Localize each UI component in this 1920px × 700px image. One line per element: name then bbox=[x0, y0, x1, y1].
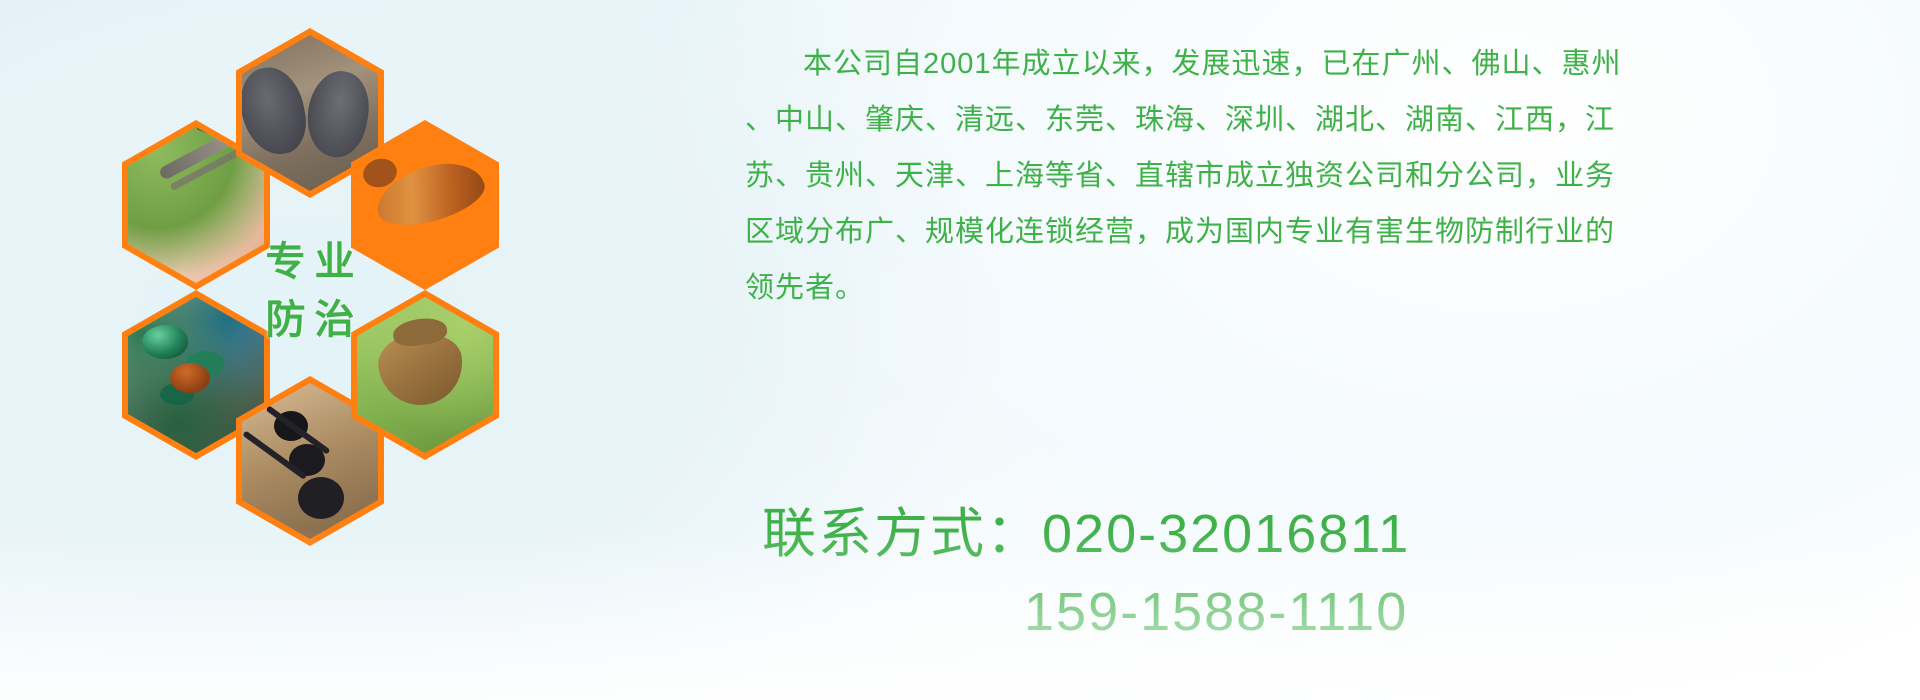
hexagon-photo-cluster: 专业 防治 bbox=[90, 10, 590, 570]
contact-phone-2[interactable]: 159-1588-1110 bbox=[1024, 582, 1408, 642]
contact-block: 联系方式：020-32016811 159-1588-1110 bbox=[762, 495, 1862, 651]
center-slogan-badge: 专业 防治 bbox=[236, 206, 384, 376]
intro-line-4: 区域分布广、规模化连锁经营，成为国内专业有害生物防制行业的 bbox=[745, 204, 1865, 260]
contact-line-primary: 联系方式：020-32016811 bbox=[762, 495, 1862, 573]
intro-paragraph: 本公司自2001年成立以来，发展迅速，已在广州、佛山、惠州 、中山、肇庆、清远、… bbox=[745, 36, 1865, 316]
contact-phone-1[interactable]: 020-32016811 bbox=[1042, 504, 1410, 564]
promo-banner: 专业 防治 本公司自2001年成立以来，发展迅速，已在广州、佛山、惠州 、中山、… bbox=[0, 0, 1920, 700]
contact-label: 联系方式： bbox=[762, 504, 1042, 564]
slogan-line-1: 专业 bbox=[257, 233, 364, 291]
intro-line-5: 领先者。 bbox=[745, 260, 1865, 316]
slogan-line-2: 防治 bbox=[257, 291, 364, 349]
intro-line-2: 、中山、肇庆、清远、东莞、珠海、深圳、湖北、湖南、江西，江 bbox=[745, 92, 1865, 148]
intro-line-3: 苏、贵州、天津、上海等省、直辖市成立独资公司和分公司，业务 bbox=[745, 148, 1865, 204]
intro-line-1: 本公司自2001年成立以来，发展迅速，已在广州、佛山、惠州 bbox=[745, 36, 1865, 92]
contact-line-secondary: 159-1588-1110 bbox=[762, 573, 1862, 651]
intro-line-1-text: 本公司自2001年成立以来，发展迅速，已在广州、佛山、惠州 bbox=[803, 48, 1622, 80]
